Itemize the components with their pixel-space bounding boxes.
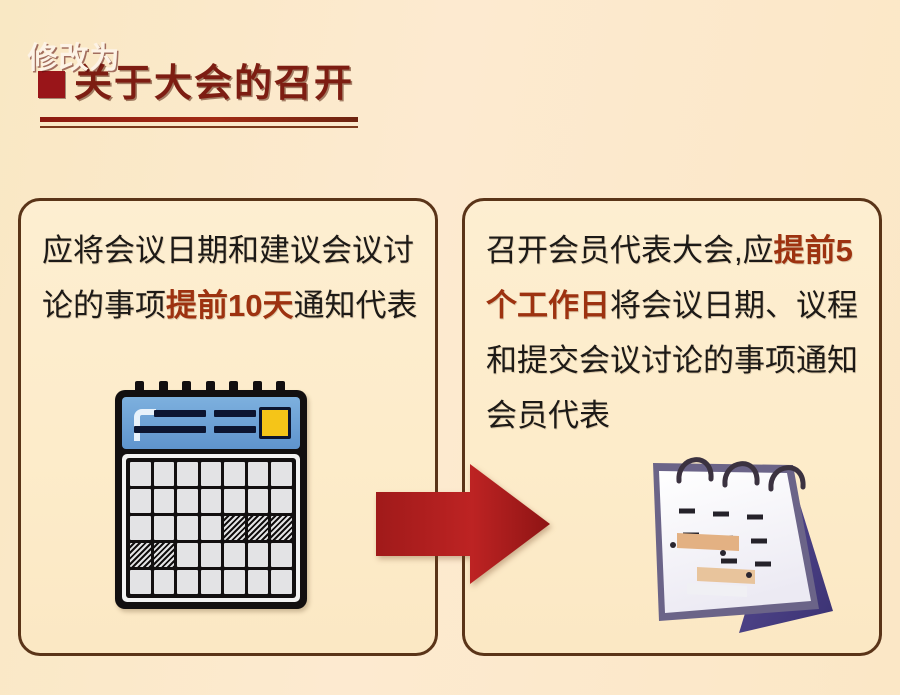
calendar-cell bbox=[154, 570, 175, 594]
calendar-cell-crossed bbox=[224, 516, 245, 540]
after-card-text: 召开会员代表大会,应提前5个工作日将会议日期、议程和提交会议讨论的事项通知会员代… bbox=[486, 223, 864, 443]
calendar-cell bbox=[177, 462, 198, 486]
calendar-cell bbox=[271, 462, 292, 486]
header-bar-icon bbox=[214, 426, 256, 433]
wall-calendar-grid bbox=[126, 458, 296, 598]
calendar-cell bbox=[201, 516, 222, 540]
calendar-cell bbox=[248, 489, 269, 513]
calendar-cell bbox=[224, 570, 245, 594]
before-text-part-4: 通知代表 bbox=[293, 288, 417, 323]
header-bar-icon bbox=[214, 410, 256, 417]
calendar-cell bbox=[248, 543, 269, 567]
title-underline-thin bbox=[40, 126, 358, 128]
calendar-cell bbox=[224, 462, 245, 486]
before-highlight: 提前10天 bbox=[166, 288, 293, 323]
calendar-cell bbox=[201, 462, 222, 486]
calendar-cell-crossed bbox=[271, 516, 292, 540]
calendar-cell bbox=[154, 489, 175, 513]
before-card: 应将会议日期和建议会议讨论的事项提前10天通知代表 bbox=[18, 198, 438, 656]
calendar-cell bbox=[130, 462, 151, 486]
title-underline-thick bbox=[40, 117, 358, 122]
calendar-cell bbox=[248, 570, 269, 594]
calendar-cell bbox=[130, 570, 151, 594]
before-text-part-2: 论的事项 bbox=[42, 288, 166, 323]
calendar-cell-crossed bbox=[130, 543, 151, 567]
calendar-cell bbox=[201, 570, 222, 594]
calendar-cell bbox=[271, 489, 292, 513]
calendar-cell bbox=[177, 543, 198, 567]
wall-calendar-grid-panel bbox=[122, 454, 300, 602]
wall-calendar-header-band bbox=[122, 397, 300, 449]
after-text-part-1: 召开会员代表大会,应 bbox=[486, 233, 774, 268]
calendar-cell bbox=[154, 516, 175, 540]
wall-calendar-illustration bbox=[115, 381, 307, 609]
before-card-text: 应将会议日期和建议会议讨论的事项提前10天通知代表 bbox=[42, 223, 420, 333]
change-arrow bbox=[376, 462, 550, 586]
calendar-cell bbox=[177, 516, 198, 540]
calendar-cell bbox=[271, 570, 292, 594]
page-header: 关于大会的召开 bbox=[38, 60, 458, 140]
wall-calendar-body bbox=[115, 390, 307, 609]
arrow-shape bbox=[376, 464, 550, 584]
poster-root: 关于大会的召开 应将会议日期和建议会议讨论的事项提前10天通知代表 bbox=[0, 0, 900, 695]
before-text-part-1: 应将会议日期和建议会议讨 bbox=[42, 233, 414, 268]
calendar-cell bbox=[130, 489, 151, 513]
header-bar-icon bbox=[154, 410, 206, 417]
red-square-bullet-icon bbox=[38, 71, 65, 98]
after-card: 召开会员代表大会,应提前5个工作日将会议日期、议程和提交会议讨论的事项通知会员代… bbox=[462, 198, 882, 656]
calendar-cell-crossed bbox=[154, 543, 175, 567]
header-bar-icon bbox=[134, 426, 206, 433]
calendar-cell bbox=[154, 462, 175, 486]
highlight-bar bbox=[677, 533, 739, 551]
calendar-cell bbox=[201, 543, 222, 567]
hook-icon bbox=[134, 409, 156, 441]
calendar-cell bbox=[248, 462, 269, 486]
calendar-cell-crossed bbox=[248, 516, 269, 540]
page-title: 关于大会的召开 bbox=[74, 65, 354, 103]
calendar-cell bbox=[201, 489, 222, 513]
calendar-cell bbox=[224, 489, 245, 513]
calendar-cell bbox=[177, 570, 198, 594]
title-row: 关于大会的召开 bbox=[38, 60, 458, 108]
calendar-cell bbox=[130, 516, 151, 540]
calendar-cell bbox=[271, 543, 292, 567]
desk-calendar-illustration bbox=[621, 441, 861, 649]
calendar-cell bbox=[224, 543, 245, 567]
accent-square-icon bbox=[259, 407, 291, 439]
calendar-cell bbox=[177, 489, 198, 513]
